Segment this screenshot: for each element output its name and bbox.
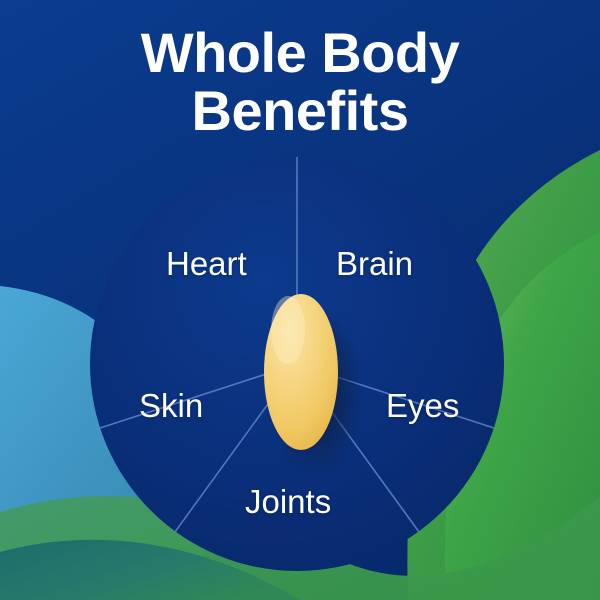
wheel-label-heart: Heart: [166, 246, 247, 282]
wheel-label-skin: Skin: [139, 388, 203, 424]
wheel-label-joints: Joints: [245, 484, 331, 520]
whole-body-benefits-graphic: Whole Body Benefits Heart Brain Eyes Joi…: [0, 0, 600, 600]
wheel-label-eyes: Eyes: [386, 388, 459, 424]
wheel-label-brain: Brain: [336, 246, 413, 282]
capsule-highlight: [271, 296, 305, 364]
